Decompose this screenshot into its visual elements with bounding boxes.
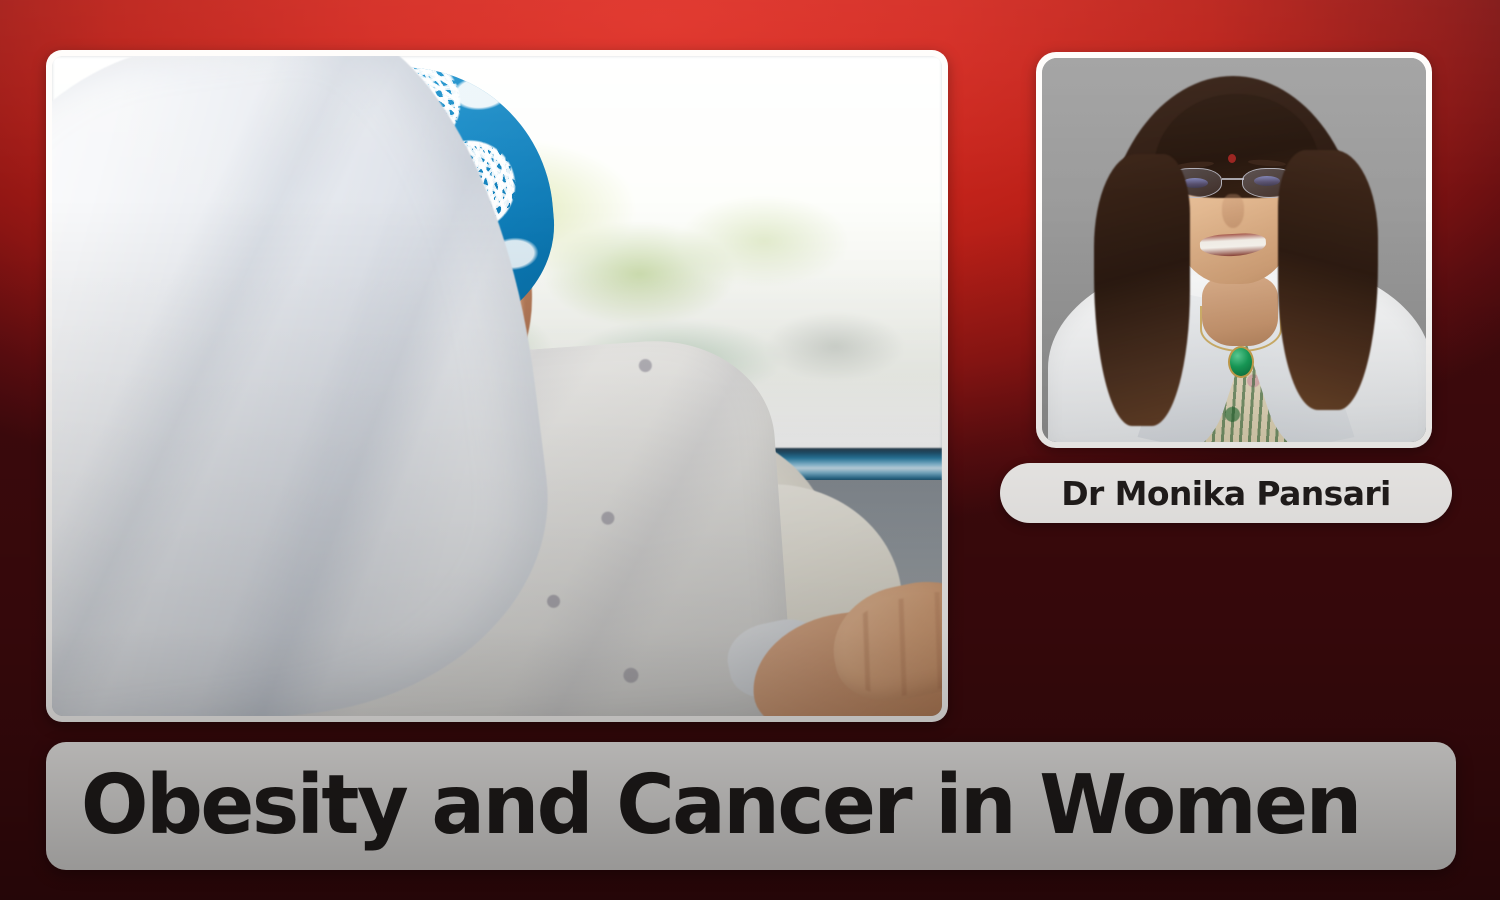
patient-photo — [52, 56, 942, 716]
patient-photo-card — [46, 50, 948, 722]
title-banner: Obesity and Cancer in Women — [46, 742, 1456, 870]
green-pendant — [1228, 346, 1254, 378]
doctor-photo-card — [1036, 52, 1432, 448]
doctor-name-label: Dr Monika Pansari — [1061, 474, 1391, 513]
doctor-hair-side-right — [1278, 150, 1378, 410]
poster-canvas: Dr Monika Pansari Obesity and Cancer in … — [0, 0, 1500, 900]
doctor-name-badge: Dr Monika Pansari — [1000, 463, 1452, 523]
doctor-hair-side-left — [1094, 154, 1190, 426]
page-title: Obesity and Cancer in Women — [46, 765, 1360, 847]
doctor-photo — [1042, 58, 1426, 442]
eyeglass-bridge — [1222, 178, 1244, 180]
bindi — [1228, 154, 1236, 163]
doctor-nose — [1222, 194, 1244, 228]
